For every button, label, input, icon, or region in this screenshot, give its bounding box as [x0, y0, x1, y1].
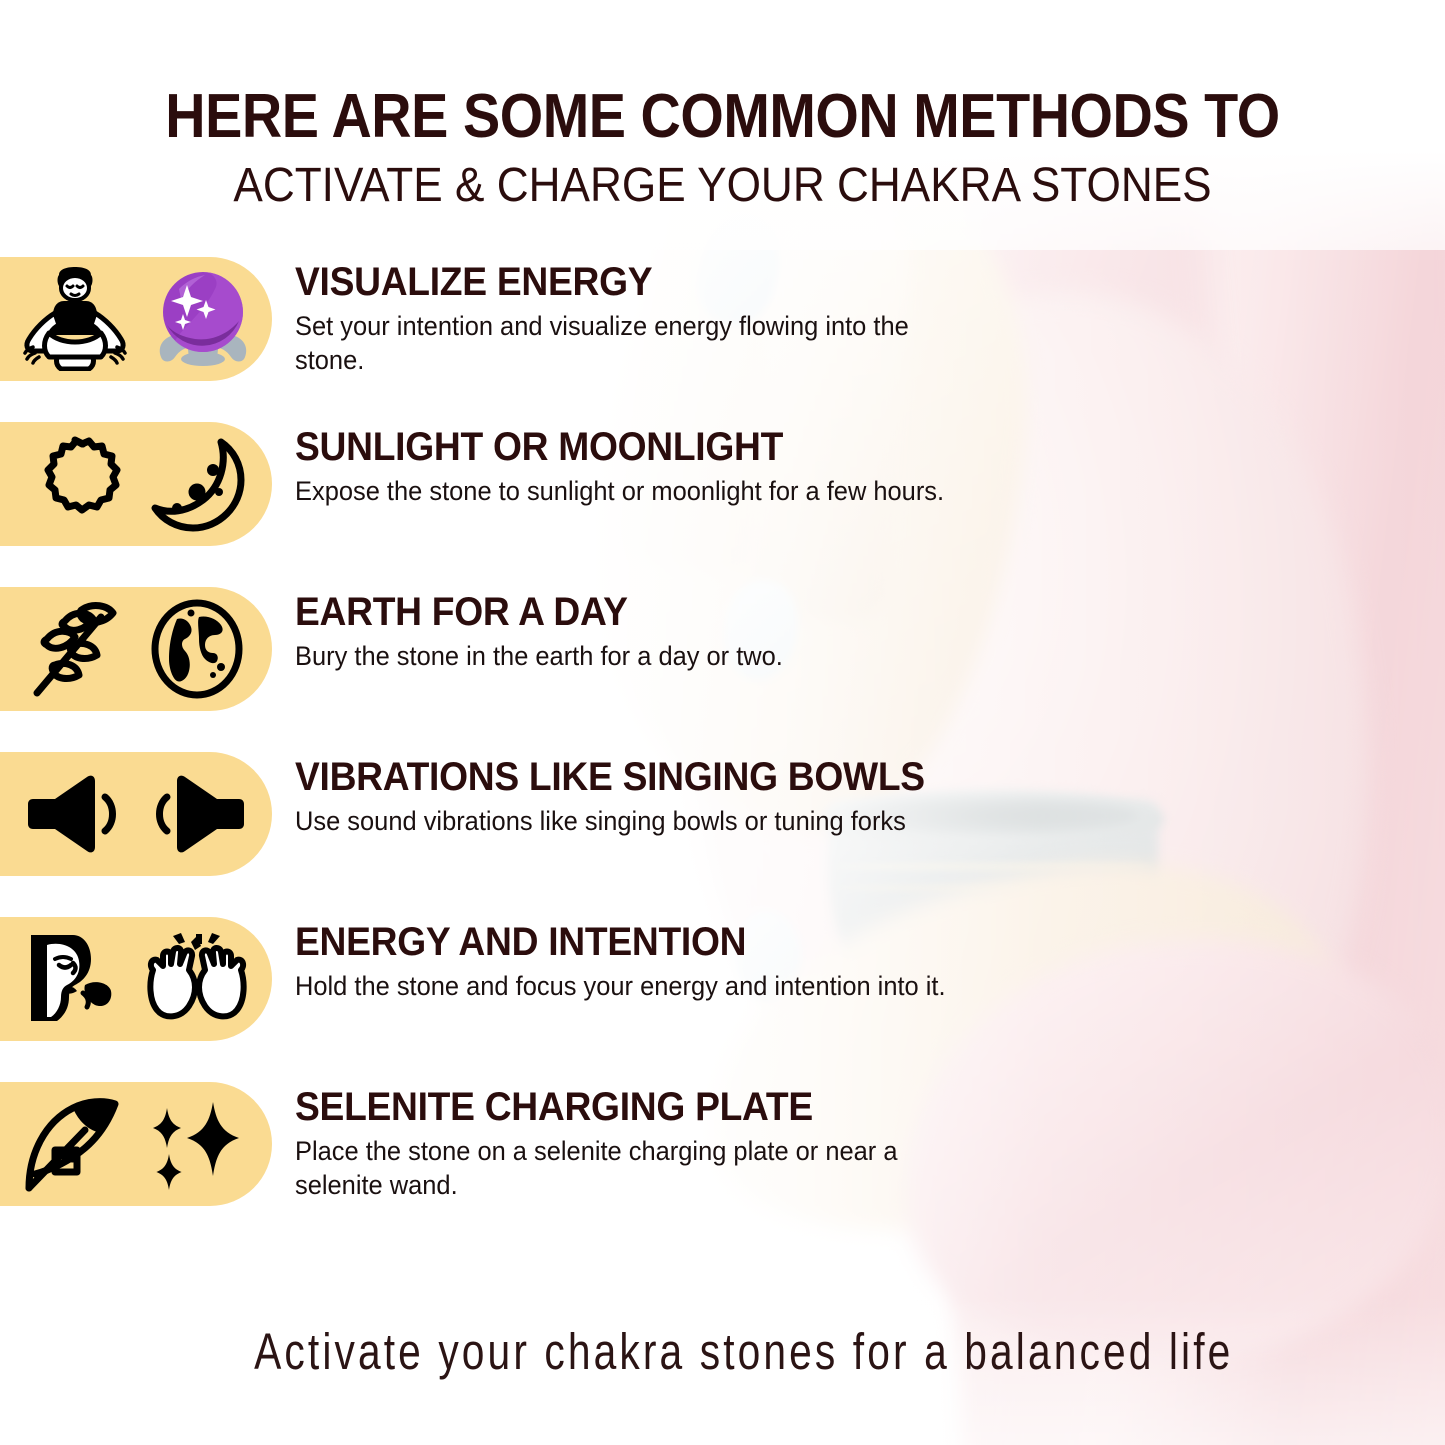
- method-description: Place the stone on a selenite charging p…: [295, 1134, 967, 1203]
- method-icon-pill: [0, 422, 272, 546]
- method-description: Hold the stone and focus your energy and…: [295, 969, 967, 1003]
- header-line-1: HERE ARE SOME COMMON METHODS TO: [72, 86, 1373, 148]
- method-icon-pill: [0, 587, 272, 711]
- method-title: VISUALIZE ENERGY: [295, 261, 1020, 303]
- raised-hands-icon: [143, 932, 251, 1026]
- infographic-poster: HERE ARE SOME COMMON METHODS TO ACTIVATE…: [0, 0, 1445, 1445]
- method-row: ENERGY AND INTENTION Hold the stone and …: [0, 917, 1445, 1082]
- person-in-lotus-position-icon: [19, 267, 131, 371]
- method-row: VISUALIZE ENERGY Set your intention and …: [0, 257, 1445, 422]
- method-title: EARTH FOR A DAY: [295, 591, 1020, 633]
- sun-icon: [25, 434, 125, 534]
- method-text: VISUALIZE ENERGY Set your intention and …: [295, 261, 1075, 378]
- method-row: SELENITE CHARGING PLATE Place the stone …: [0, 1082, 1445, 1247]
- method-icon-pill: [0, 257, 272, 381]
- method-title: SELENITE CHARGING PLATE: [295, 1086, 1020, 1128]
- face-blowing-icon: [21, 929, 121, 1029]
- method-description: Set your intention and visualize energy …: [295, 309, 967, 378]
- sparkles-icon: [147, 1094, 251, 1194]
- method-text: SUNLIGHT OR MOONLIGHT Expose the stone t…: [295, 426, 1075, 508]
- method-text: SELENITE CHARGING PLATE Place the stone …: [295, 1086, 1075, 1203]
- method-text: VIBRATIONS LIKE SINGING BOWLS Use sound …: [295, 756, 1075, 838]
- speaker-sound-icon: [25, 771, 125, 857]
- header-line-2: ACTIVATE & CHARGE YOUR CHAKRA STONES: [58, 162, 1387, 210]
- method-description: Expose the stone to sunlight or moonligh…: [295, 474, 967, 508]
- method-row: VIBRATIONS LIKE SINGING BOWLS Use sound …: [0, 752, 1445, 917]
- method-description: Use sound vibrations like singing bowls …: [295, 804, 967, 838]
- method-text: EARTH FOR A DAY Bury the stone in the ea…: [295, 591, 1075, 673]
- globe-earth-icon: [147, 599, 247, 699]
- herb-branch-icon: [25, 599, 125, 699]
- method-description: Bury the stone in the earth for a day or…: [295, 639, 967, 673]
- crescent-moon-icon: [147, 434, 247, 534]
- footer-tagline: Activate your chakra stones for a balanc…: [254, 1323, 1233, 1382]
- method-title: SUNLIGHT OR MOONLIGHT: [295, 426, 1020, 468]
- method-icon-pill: [0, 917, 272, 1041]
- speaker-sound-mirrored-icon: [147, 771, 247, 857]
- method-icon-pill: [0, 752, 272, 876]
- method-title: VIBRATIONS LIKE SINGING BOWLS: [295, 756, 1020, 798]
- feather-quill-icon: [21, 1094, 125, 1194]
- method-title: ENERGY AND INTENTION: [295, 921, 1020, 963]
- method-row: EARTH FOR A DAY Bury the stone in the ea…: [0, 587, 1445, 752]
- crystal-ball-icon: [153, 267, 253, 371]
- poster-header: HERE ARE SOME COMMON METHODS TO ACTIVATE…: [0, 0, 1445, 210]
- methods-list: VISUALIZE ENERGY Set your intention and …: [0, 257, 1445, 1247]
- method-row: SUNLIGHT OR MOONLIGHT Expose the stone t…: [0, 422, 1445, 587]
- footer: Activate your chakra stones for a balanc…: [0, 1328, 1445, 1376]
- method-text: ENERGY AND INTENTION Hold the stone and …: [295, 921, 1075, 1003]
- method-icon-pill: [0, 1082, 272, 1206]
